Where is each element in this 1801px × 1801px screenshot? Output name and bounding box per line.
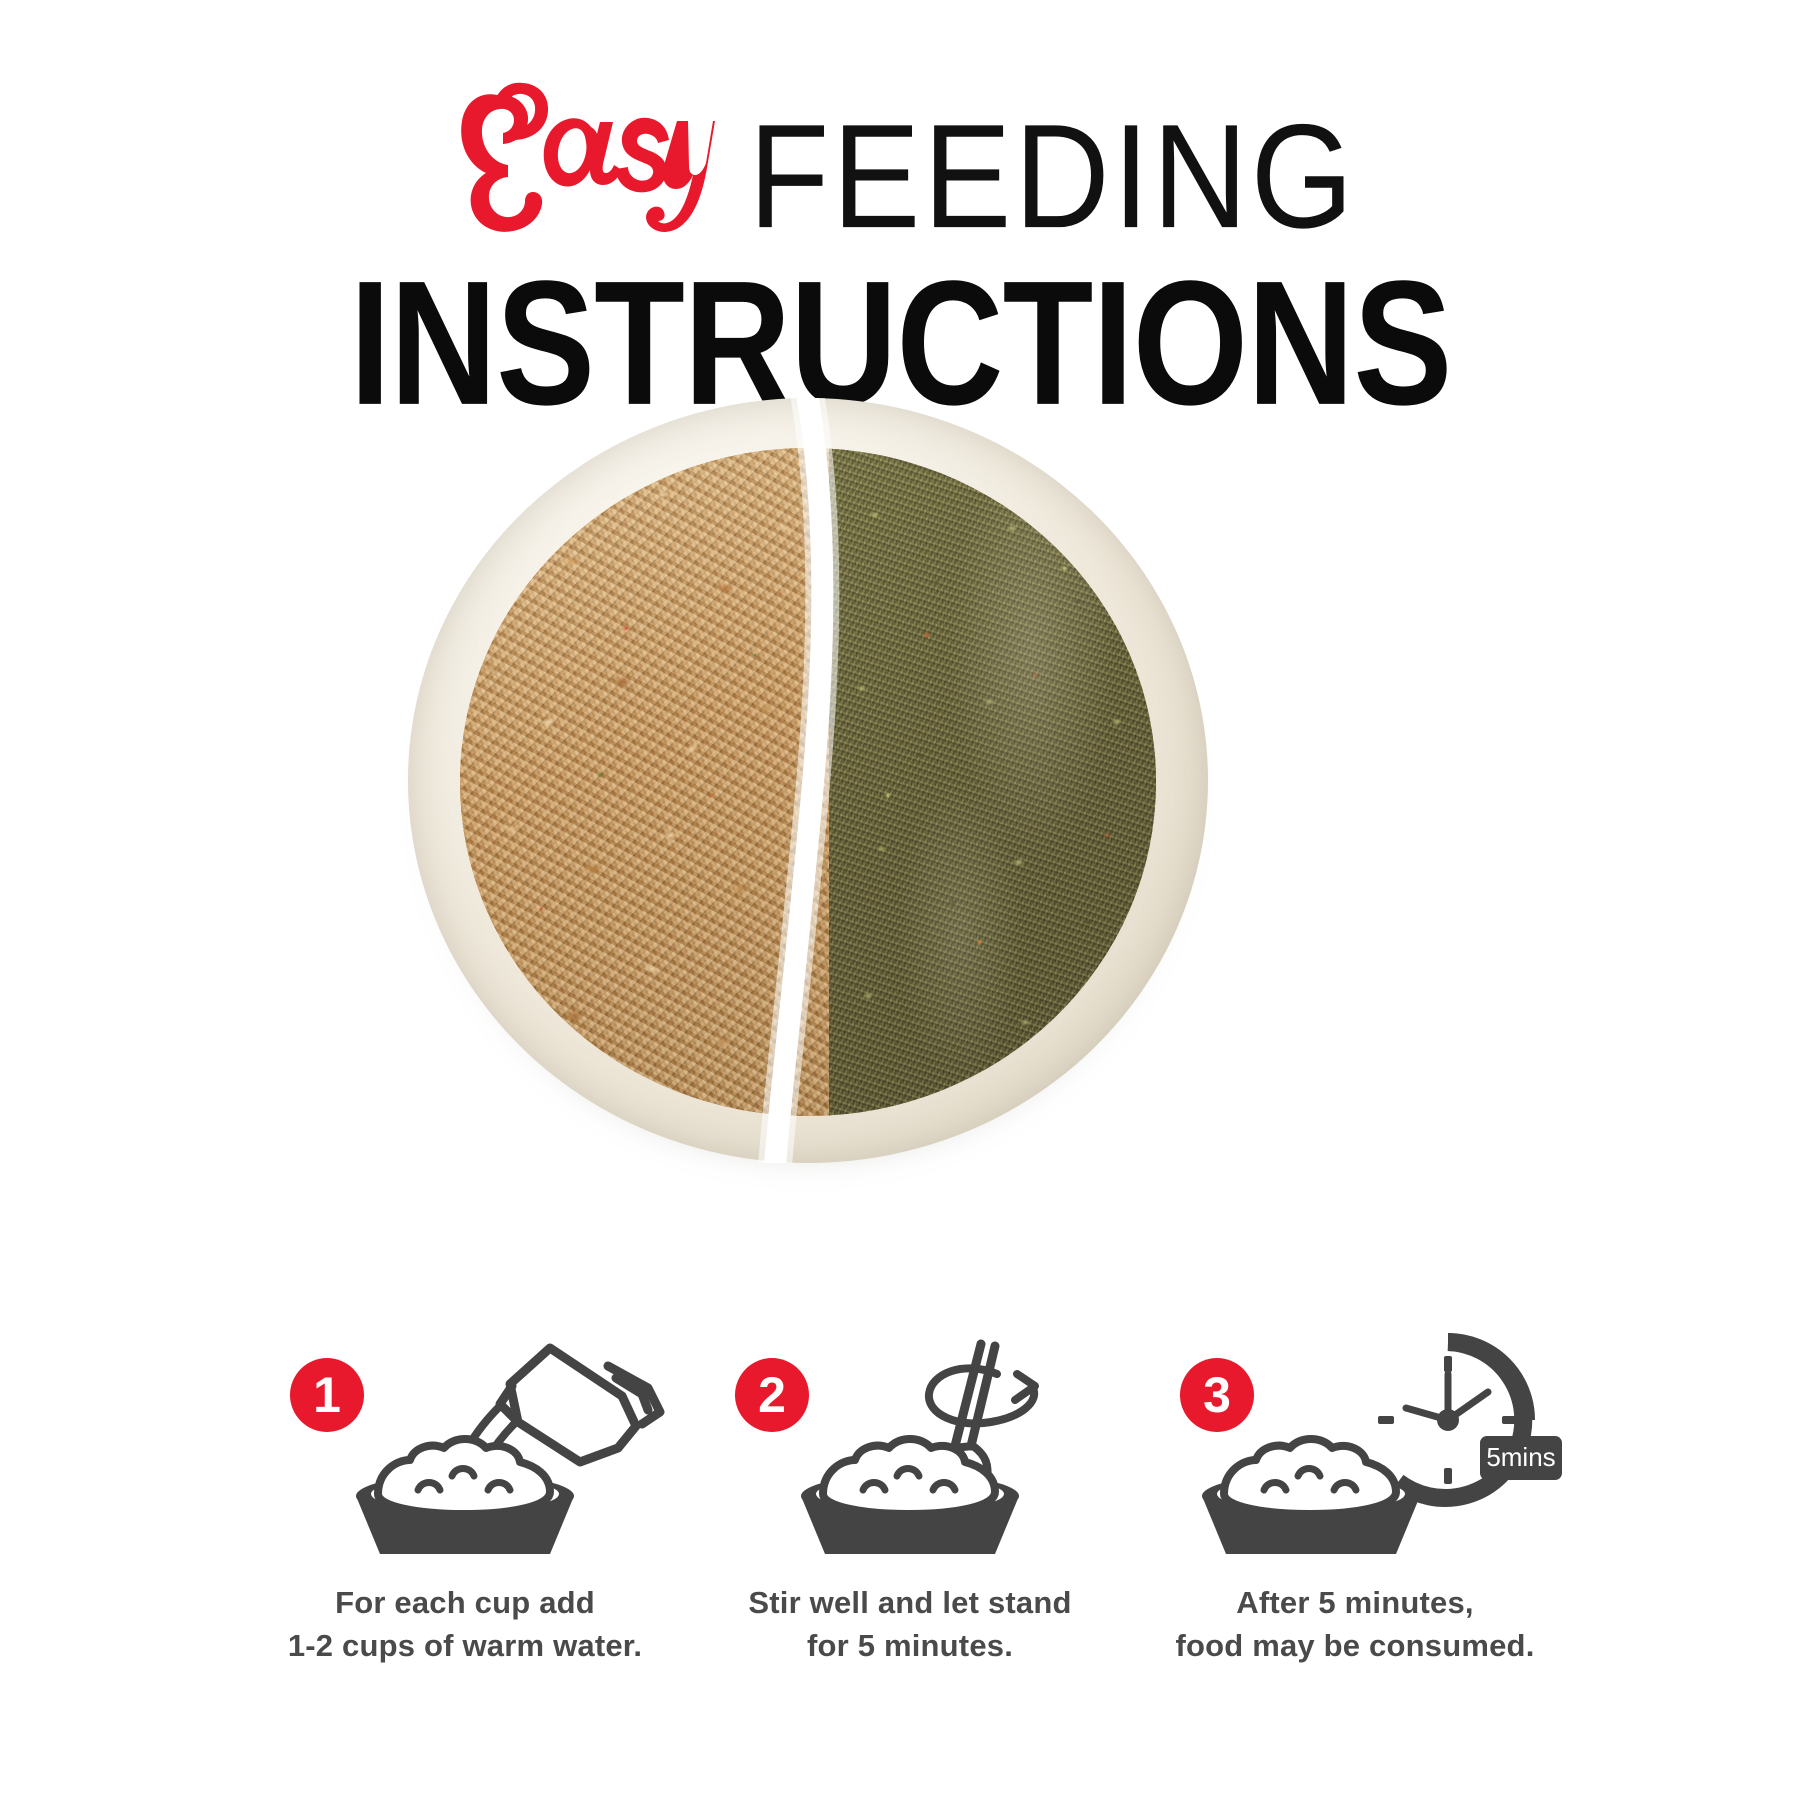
food-surface [460,448,1156,1116]
dry-food-half [460,448,829,1116]
step-1-caption: For each cup add 1-2 cups of warm water. [288,1582,642,1668]
step-2: 2 [695,1330,1125,1668]
timer-badge: 5mins [1480,1436,1562,1480]
step-1-art: 1 [250,1330,680,1560]
dog-bowl-shape [1202,1439,1420,1554]
page-header: FEEDING INSTRUCTIONS [0,60,1801,404]
timer-badge-label: 5mins [1486,1442,1555,1472]
feeding-instructions-page: FEEDING INSTRUCTIONS 1 [0,0,1801,1801]
clock-with-bowl-icon: 5mins [1140,1330,1570,1560]
step-3-caption: After 5 minutes, food may be consumed. [1175,1582,1534,1668]
dog-bowl-shape [356,1439,574,1554]
step-3: 3 [1140,1330,1570,1668]
fork-stirring-bowl-icon [695,1330,1125,1560]
step-1: 1 [250,1330,680,1668]
rehydrated-food-half [829,448,1156,1116]
ceramic-bowl [408,398,1208,1163]
step-2-art: 2 [695,1330,1125,1560]
food-bowl-image [408,398,1208,1168]
easy-script-word [445,65,715,240]
title-line-1: FEEDING [0,60,1801,240]
heading-feeding: FEEDING [749,108,1357,244]
step-3-art: 3 [1140,1330,1570,1560]
pouring-pitcher-into-bowl-icon [250,1330,680,1560]
step-2-caption: Stir well and let stand for 5 minutes. [748,1582,1071,1668]
steps-row: 1 [250,1330,1570,1668]
